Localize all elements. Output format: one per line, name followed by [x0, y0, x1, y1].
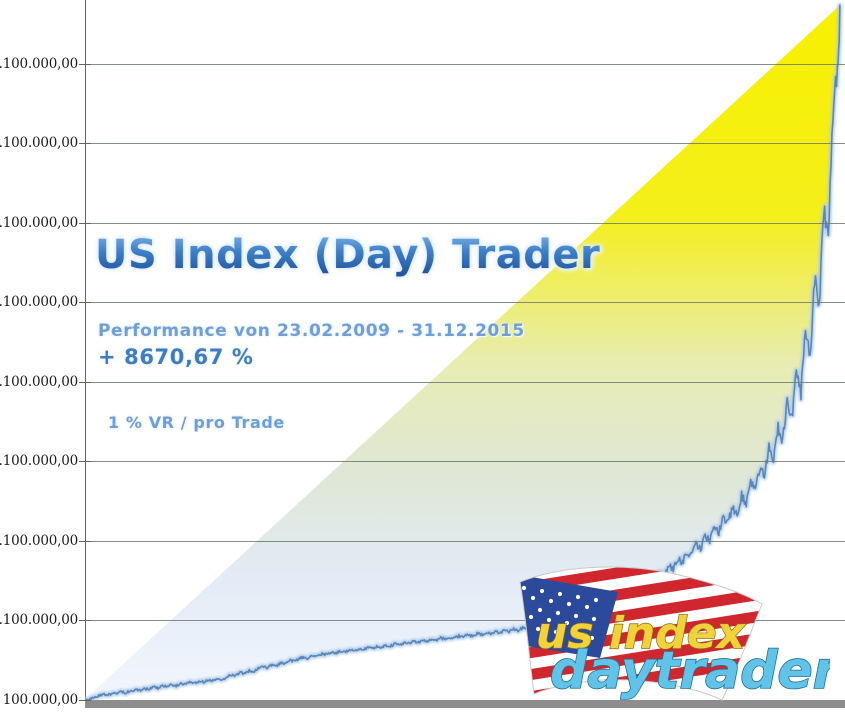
- y-axis-tick-label: 7.100.000,00: [0, 135, 78, 151]
- gridline: [85, 382, 845, 383]
- y-axis-labels: 8.100.000,007.100.000,006.100.000,005.10…: [0, 0, 78, 717]
- y-axis-tick-mark: [79, 700, 91, 701]
- gridline: [85, 223, 845, 224]
- logo-word-bottom: daytrader: [550, 641, 830, 701]
- y-axis-tick-label: 4.100.000,00: [0, 374, 78, 390]
- y-axis-tick-label: 100.000,00: [3, 692, 78, 708]
- gridline: [85, 302, 845, 303]
- y-axis-tick-mark: [79, 223, 91, 224]
- gridline: [85, 541, 845, 542]
- y-axis-tick-mark: [79, 620, 91, 621]
- y-axis-tick-label: 1.100.000,00: [0, 612, 78, 628]
- chart-canvas: 8.100.000,007.100.000,006.100.000,005.10…: [0, 0, 845, 717]
- risk-per-trade-label: 1 % VR / pro Trade: [108, 413, 285, 432]
- y-axis-tick-mark: [79, 64, 91, 65]
- y-axis-tick-label: 6.100.000,00: [0, 215, 78, 231]
- brand-logo: us index daytrader: [500, 560, 830, 710]
- y-axis-tick-label: 8.100.000,00: [0, 56, 78, 72]
- y-axis-tick-label: 5.100.000,00: [0, 294, 78, 310]
- performance-percent-label: + 8670,67 %: [98, 345, 254, 369]
- y-axis-tick-mark: [79, 382, 91, 383]
- y-axis-tick-mark: [79, 302, 91, 303]
- gridline: [85, 461, 845, 462]
- y-axis-tick-mark: [79, 143, 91, 144]
- gridline: [85, 64, 845, 65]
- performance-period-label: Performance von 23.02.2009 - 31.12.2015: [98, 321, 525, 341]
- y-axis-tick-mark: [79, 541, 91, 542]
- y-axis-tick-label: 3.100.000,00: [0, 453, 78, 469]
- gridline: [85, 143, 845, 144]
- y-axis-tick-mark: [79, 461, 91, 462]
- y-axis-tick-label: 2.100.000,00: [0, 533, 78, 549]
- chart-title: US Index (Day) Trader: [95, 232, 600, 278]
